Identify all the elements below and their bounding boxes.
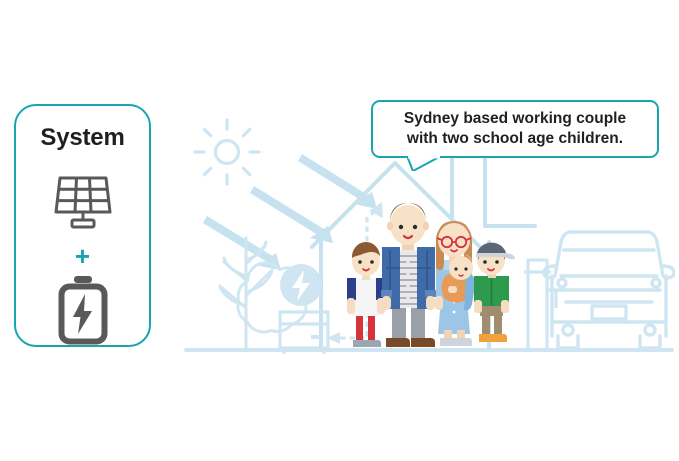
solar-panel-icon xyxy=(52,172,114,235)
family-boy-right xyxy=(474,243,515,342)
speech-bubble-line-2: with two school age children. xyxy=(383,129,647,149)
page-title: System xyxy=(40,126,124,150)
speech-bubble-tail xyxy=(407,156,441,171)
battery-icon xyxy=(56,275,110,350)
energy-bolt-icon xyxy=(280,264,322,306)
garage-roof xyxy=(485,210,535,226)
system-card: System + xyxy=(14,104,151,347)
speech-bubble: Sydney based working couple with two sch… xyxy=(371,100,659,158)
family-father xyxy=(381,203,436,347)
speech-bubble-line-1: Sydney based working couple xyxy=(383,109,647,129)
chimney xyxy=(452,150,485,220)
plus-icon: + xyxy=(75,243,90,269)
sun-icon xyxy=(195,120,259,184)
car-icon xyxy=(544,232,674,348)
family-boy-left xyxy=(347,242,385,347)
sunlight-arrow xyxy=(203,154,377,270)
illustration-canvas: System + xyxy=(0,0,679,461)
